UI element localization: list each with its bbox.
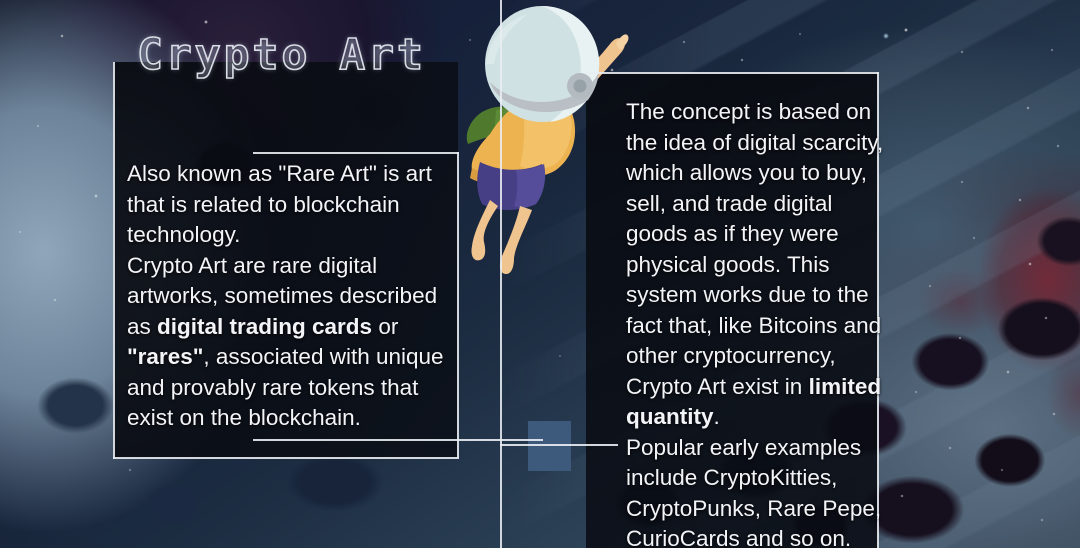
left-bold-rares: "rares" (127, 344, 203, 369)
left-paragraph-1: Also known as "Rare Art" is art that is … (127, 161, 438, 247)
blue-square-accent (528, 421, 571, 471)
right-paragraph-1-lead: The concept is based on the idea of digi… (626, 99, 889, 399)
left-box-bottom-border (113, 457, 459, 459)
right-leg (500, 206, 532, 274)
right-paragraph-2: Popular early examples include CryptoKit… (626, 435, 887, 548)
right-box-top-border (585, 72, 879, 74)
left-bold-trading-cards: digital trading cards (157, 314, 372, 339)
center-divider-line (500, 0, 502, 548)
right-paragraph-1-tail: . (714, 404, 720, 429)
left-box-inner-rule (253, 439, 543, 441)
helmet-valve-inner (574, 80, 587, 93)
right-body-text: The concept is based on the idea of digi… (626, 97, 888, 548)
left-box-right-border (457, 152, 459, 458)
left-paragraph-2b: or (372, 314, 405, 339)
left-box-left-border (113, 62, 115, 459)
left-body-text: Also known as "Rare Art" is art that is … (127, 159, 449, 434)
left-leg (471, 200, 498, 260)
page-title: Crypto Art (137, 30, 426, 80)
left-box-top-border (253, 152, 459, 154)
slide-canvas: Crypto Art Also known as "Rare Art" is a… (0, 0, 1080, 548)
shorts-highlight (514, 164, 545, 207)
right-box-leader-line (500, 444, 618, 446)
